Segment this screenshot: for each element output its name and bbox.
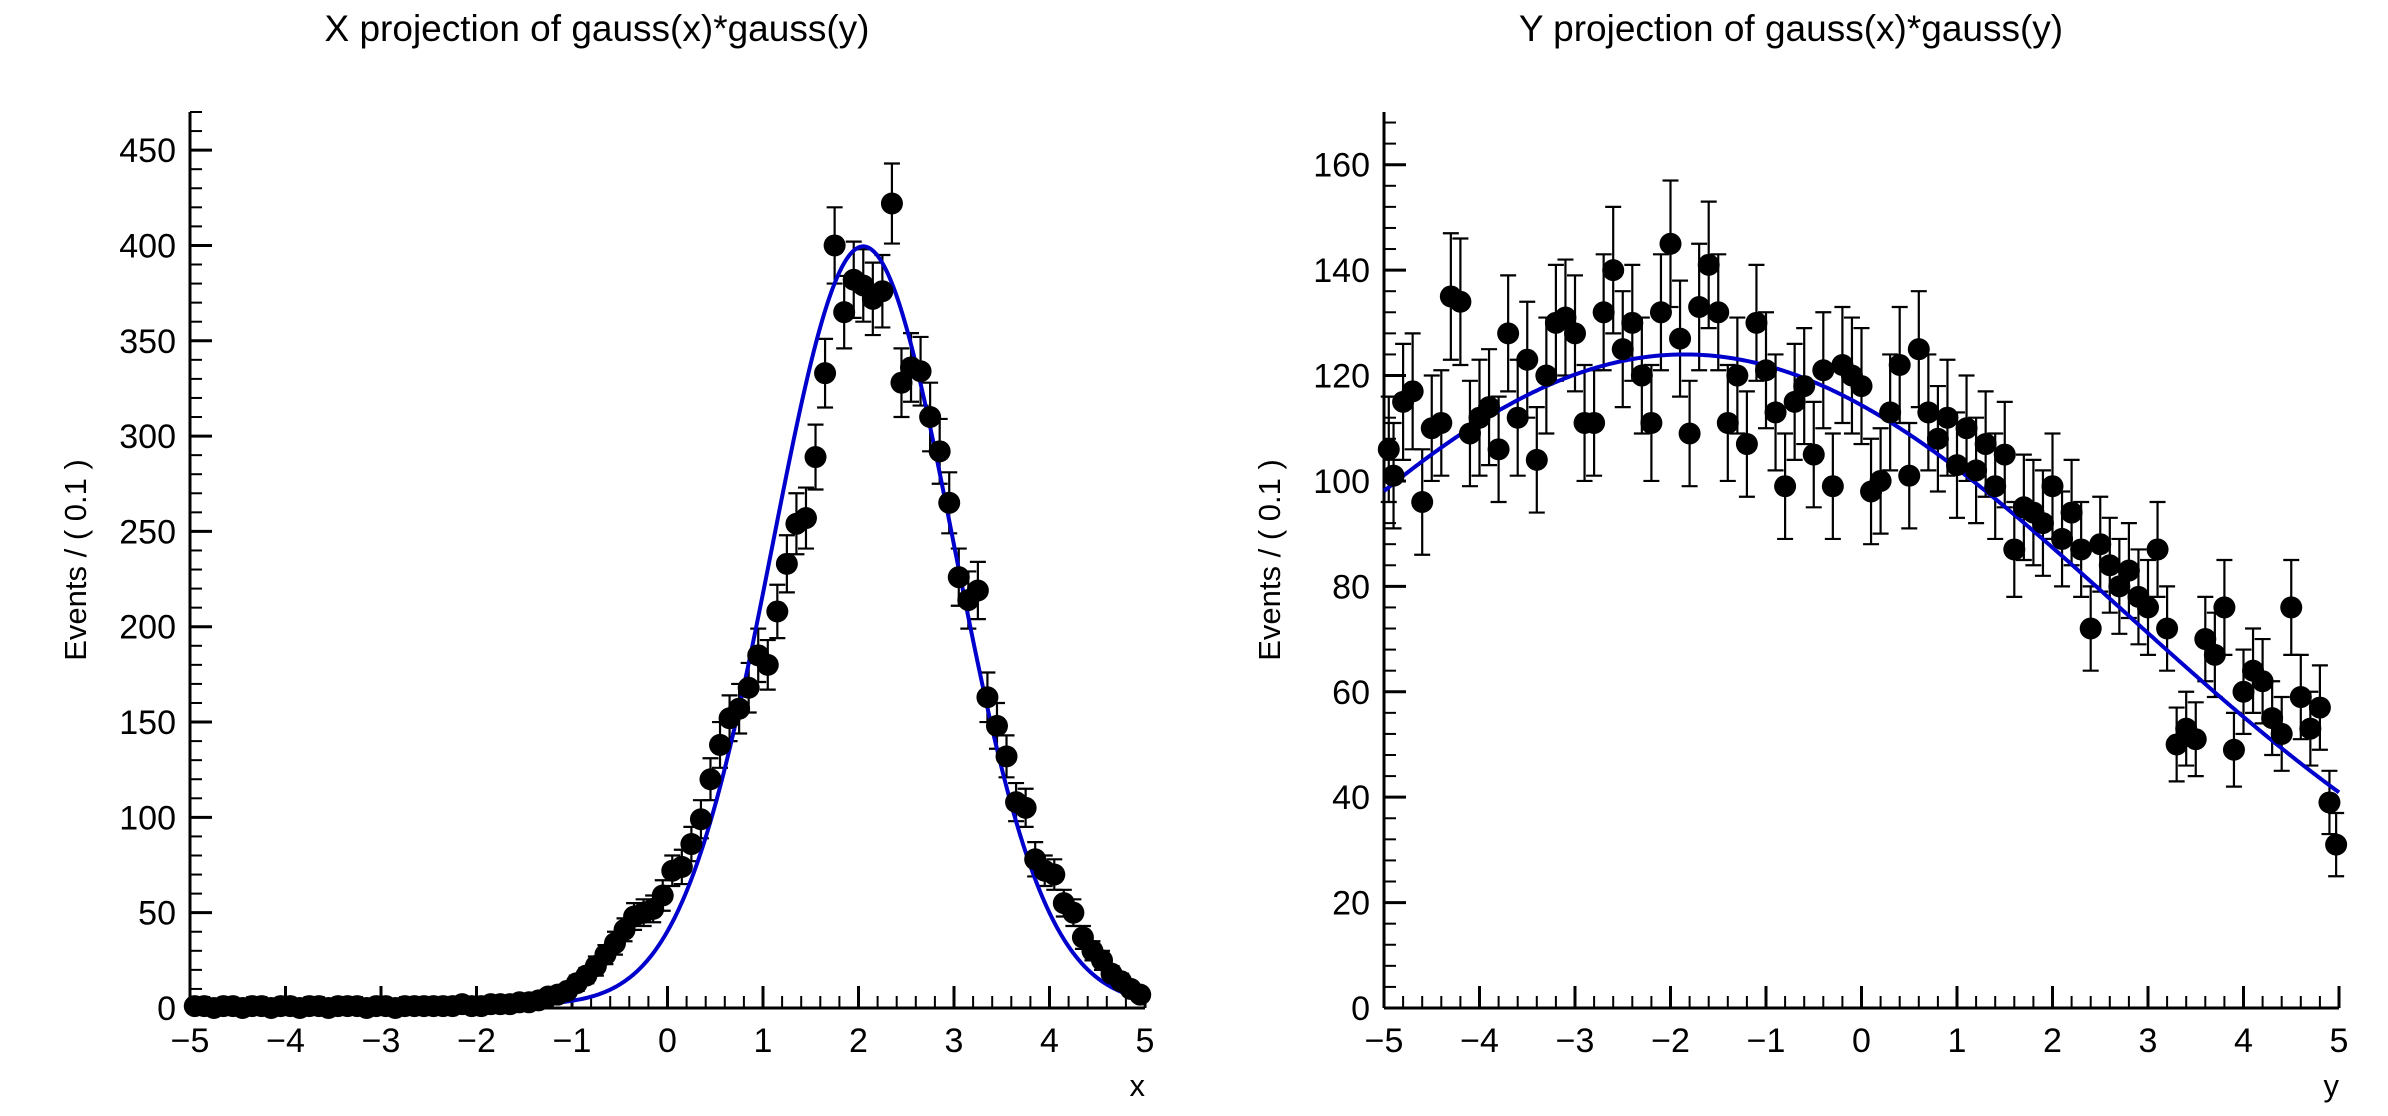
data-point	[2290, 686, 2312, 708]
data-point	[2223, 739, 2245, 761]
data-point	[1917, 401, 1939, 423]
data-point	[652, 885, 674, 907]
data-point	[757, 654, 779, 676]
y-axis-title: Events / ( 0.1 )	[58, 459, 93, 661]
y-tick-label: 300	[119, 418, 176, 456]
data-point	[1879, 401, 1901, 423]
data-point	[1660, 233, 1682, 255]
x-tick-label: 0	[658, 1022, 677, 1060]
x-tick-label: −2	[1651, 1022, 1690, 1060]
x-tick-label: −5	[1365, 1022, 1404, 1060]
data-point	[1889, 354, 1911, 376]
data-point	[948, 566, 970, 588]
data-point	[814, 362, 836, 384]
data-point	[1612, 338, 1634, 360]
data-point	[919, 406, 941, 428]
error-bars	[1381, 181, 2344, 877]
data-point	[1669, 328, 1691, 350]
y-tick-label: 100	[1313, 463, 1370, 501]
y-tick-label: 60	[1332, 674, 1370, 712]
data-point	[938, 492, 960, 514]
x-tick-label: −1	[1747, 1022, 1786, 1060]
data-point	[2280, 596, 2302, 618]
data-point	[1383, 465, 1405, 487]
data-point	[1994, 444, 2016, 466]
data-point	[1688, 296, 1710, 318]
data-point	[1497, 322, 1519, 344]
data-point	[1015, 797, 1037, 819]
y-tick-label: 350	[119, 323, 176, 361]
data-point	[1526, 449, 1548, 471]
pad-x-projection[interactable]: X projection of gauss(x)*gauss(y) −5−4−3…	[0, 0, 1194, 1116]
data-point	[1621, 312, 1643, 334]
data-point	[699, 768, 721, 790]
data-point	[728, 698, 750, 720]
data-point	[2309, 697, 2331, 719]
y-tick-label: 150	[119, 704, 176, 742]
data-point	[1378, 438, 1400, 460]
data-markers	[1378, 233, 2347, 856]
data-point	[2156, 618, 2178, 640]
data-markers	[184, 193, 1151, 1019]
data-point	[871, 280, 893, 302]
y-tick-label: 50	[138, 895, 176, 933]
data-point	[1793, 375, 1815, 397]
data-point	[776, 553, 798, 575]
data-point	[1564, 322, 1586, 344]
data-point	[1803, 444, 1825, 466]
data-point	[1507, 407, 1529, 429]
data-point	[996, 745, 1018, 767]
data-point	[2042, 475, 2064, 497]
data-point	[1516, 349, 1538, 371]
data-point	[2252, 670, 2274, 692]
x-tick-label: 5	[1136, 1022, 1155, 1060]
data-point	[2061, 502, 2083, 524]
x-tick-label: −4	[1460, 1022, 1499, 1060]
data-point	[795, 507, 817, 529]
data-point	[1488, 438, 1510, 460]
data-point	[1851, 375, 1873, 397]
data-point	[1602, 259, 1624, 281]
data-point	[967, 580, 989, 602]
y-tick-label: 160	[1313, 147, 1370, 185]
data-point	[1717, 412, 1739, 434]
y-axis-title: Events / ( 0.1 )	[1252, 459, 1287, 661]
root-canvas: X projection of gauss(x)*gauss(y) −5−4−3…	[0, 0, 2388, 1116]
data-point	[2137, 596, 2159, 618]
data-point	[1698, 254, 1720, 276]
y-tick-label: 40	[1332, 779, 1370, 817]
data-point	[2213, 596, 2235, 618]
x-tick-label: −5	[171, 1022, 210, 1060]
data-point	[1640, 412, 1662, 434]
data-point	[976, 686, 998, 708]
data-point	[1755, 359, 1777, 381]
data-point	[2070, 538, 2092, 560]
data-point	[1402, 380, 1424, 402]
x-tick-label: 3	[2139, 1022, 2158, 1060]
data-point	[1745, 312, 1767, 334]
data-point	[1736, 433, 1758, 455]
data-point	[1043, 864, 1065, 886]
data-point	[1870, 470, 1892, 492]
y-tick-label: 120	[1313, 358, 1370, 396]
data-point	[1411, 491, 1433, 513]
data-point	[1430, 412, 1452, 434]
x-tick-label: 4	[2234, 1022, 2253, 1060]
y-tick-label: 140	[1313, 252, 1370, 290]
data-point	[1975, 433, 1997, 455]
y-tick-label: 200	[119, 609, 176, 647]
x-tick-label: 1	[754, 1022, 773, 1060]
y-tick-label: 0	[157, 990, 176, 1028]
data-point	[1679, 423, 1701, 445]
data-point	[1898, 465, 1920, 487]
data-point	[2299, 718, 2321, 740]
y-tick-label: 20	[1332, 885, 1370, 923]
data-point	[1984, 475, 2006, 497]
data-point	[2318, 791, 2340, 813]
data-point	[1129, 984, 1151, 1006]
x-tick-label: −4	[266, 1022, 305, 1060]
y-tick-label: 100	[119, 799, 176, 837]
data-point	[1956, 417, 1978, 439]
data-point	[2099, 554, 2121, 576]
y-tick-label: 250	[119, 513, 176, 551]
x-tick-label: 1	[1948, 1022, 1967, 1060]
data-point	[1774, 475, 1796, 497]
data-point	[766, 600, 788, 622]
data-point	[2080, 618, 2102, 640]
data-point	[709, 734, 731, 756]
y-tick-label: 450	[119, 132, 176, 170]
data-point	[1822, 475, 1844, 497]
data-point	[2204, 644, 2226, 666]
x-tick-label: −3	[362, 1022, 401, 1060]
pad-y-projection[interactable]: Y projection of gauss(x)*gauss(y) −5−4−3…	[1194, 0, 2388, 1116]
data-point	[2147, 538, 2169, 560]
data-point	[1707, 301, 1729, 323]
data-point	[1812, 359, 1834, 381]
x-tick-label: 5	[2330, 1022, 2349, 1060]
data-point	[671, 856, 693, 878]
data-point	[1478, 396, 1500, 418]
data-point	[2118, 560, 2140, 582]
data-point	[2003, 538, 2025, 560]
x-tick-label: 2	[849, 1022, 868, 1060]
x-tick-label: −3	[1556, 1022, 1595, 1060]
data-point	[2032, 512, 2054, 534]
data-point	[2051, 528, 2073, 550]
x-tick-label: −2	[457, 1022, 496, 1060]
data-point	[1927, 428, 1949, 450]
data-point	[1583, 412, 1605, 434]
y-tick-label: 400	[119, 227, 176, 265]
data-point	[910, 360, 932, 382]
data-point	[1631, 365, 1653, 387]
data-point	[1726, 365, 1748, 387]
data-point	[2089, 533, 2111, 555]
data-point	[881, 193, 903, 215]
data-point	[2325, 834, 2347, 856]
data-point	[1936, 407, 1958, 429]
data-point	[680, 833, 702, 855]
error-bars	[187, 163, 1148, 1009]
x-tick-label: 3	[945, 1022, 964, 1060]
data-point	[1965, 459, 1987, 481]
data-point	[986, 715, 1008, 737]
data-point	[2271, 723, 2293, 745]
data-point	[2233, 681, 2255, 703]
x-axis-title: y	[2324, 1068, 2340, 1103]
data-point	[738, 677, 760, 699]
data-point	[1946, 454, 1968, 476]
data-point	[1449, 291, 1471, 313]
x-tick-label: −1	[553, 1022, 592, 1060]
x-tick-label: 4	[1040, 1022, 1059, 1060]
data-point	[1650, 301, 1672, 323]
data-point	[1535, 365, 1557, 387]
data-point	[1765, 401, 1787, 423]
data-point	[833, 301, 855, 323]
plot-y-projection[interactable]: −5−4−3−2−1012345020406080100120140160Eve…	[1194, 0, 2388, 1116]
data-point	[1593, 301, 1615, 323]
data-point	[805, 446, 827, 468]
data-point	[824, 234, 846, 256]
data-point	[929, 440, 951, 462]
data-point	[1062, 902, 1084, 924]
data-point	[690, 808, 712, 830]
x-tick-label: 0	[1852, 1022, 1871, 1060]
y-tick-label: 0	[1351, 990, 1370, 1028]
x-tick-label: 2	[2043, 1022, 2062, 1060]
data-point	[1908, 338, 1930, 360]
plot-x-projection[interactable]: −5−4−3−2−1012345050100150200250300350400…	[0, 0, 1194, 1116]
x-axis-title: x	[1130, 1068, 1146, 1103]
y-tick-label: 80	[1332, 568, 1370, 606]
data-point	[2185, 728, 2207, 750]
